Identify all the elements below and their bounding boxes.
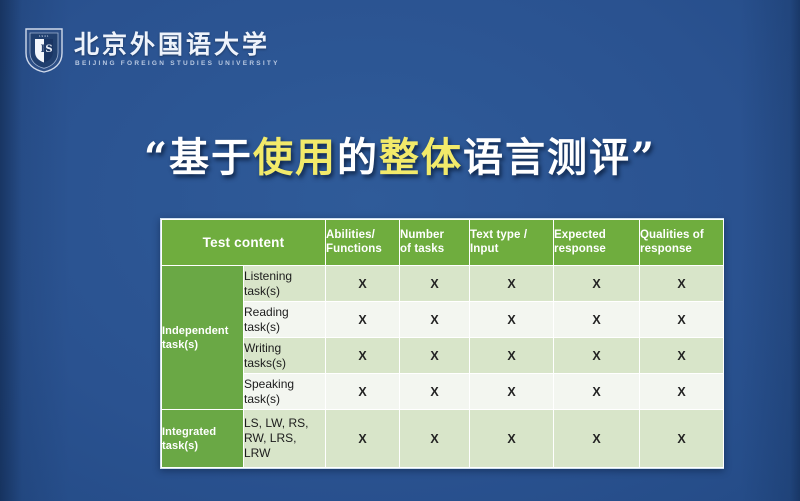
cell-listening-qualities: X — [640, 266, 724, 302]
row-label-speaking: Speaking task(s) — [244, 374, 326, 410]
column-header-qualities-of-response: Qualities of response — [640, 220, 724, 266]
cell-writing-number: X — [400, 338, 470, 374]
row-label-speaking-line-1: Speaking — [244, 377, 325, 392]
table-header: Test content Abilities/ Functions Number… — [162, 220, 724, 266]
column-header-number-of-tasks: Number of tasks — [400, 220, 470, 266]
column-header-expected-line-1: Expected — [554, 229, 639, 243]
table-row: Integrated task(s) LS, LW, RS, RW, LRS, … — [162, 410, 724, 468]
group-label-independent-line-2: task(s) — [162, 338, 243, 352]
logo-text-block: 北京外国语大学 BEIJING FOREIGN STUDIES UNIVERSI… — [74, 31, 280, 69]
slide-title: “基于使用的整体语言测评” — [0, 133, 800, 183]
group-label-independent-line-1: Independent — [162, 324, 243, 338]
cell-listening-expected: X — [554, 266, 640, 302]
group-label-independent: Independent task(s) — [162, 266, 244, 410]
row-label-writing: Writing tasks(s) — [244, 338, 326, 374]
cell-speaking-texttype: X — [470, 374, 554, 410]
cell-reading-number: X — [400, 302, 470, 338]
cell-reading-qualities: X — [640, 302, 724, 338]
cell-writing-abilities: X — [326, 338, 400, 374]
cell-speaking-qualities: X — [640, 374, 724, 410]
cell-listening-abilities: X — [326, 266, 400, 302]
title-segment-4: 整体 — [379, 134, 463, 181]
row-label-integrated-line-1: LS, LW, RS, — [244, 416, 325, 431]
cell-speaking-expected: X — [554, 374, 640, 410]
cell-reading-abilities: X — [326, 302, 400, 338]
university-name-en: BEIJING FOREIGN STUDIES UNIVERSITY — [75, 59, 280, 69]
row-label-speaking-line-2: task(s) — [244, 392, 325, 407]
row-label-integrated-line-3: LRW — [244, 446, 325, 461]
row-label-listening-line-2: task(s) — [244, 284, 325, 299]
column-header-expected-line-2: response — [554, 243, 639, 257]
cell-integrated-number: X — [400, 410, 470, 468]
cell-reading-expected: X — [554, 302, 640, 338]
university-name-cn: 北京外国语大学 — [74, 31, 280, 58]
row-label-integrated-line-2: RW, LRS, — [244, 431, 325, 446]
row-label-reading: Reading task(s) — [244, 302, 326, 338]
column-header-test-content: Test content — [162, 220, 326, 266]
group-label-integrated: Integrated task(s) — [162, 410, 244, 468]
test-content-table: Test content Abilities/ Functions Number… — [161, 219, 724, 468]
title-close-quote: ” — [631, 134, 656, 181]
svg-text:1941: 1941 — [39, 34, 49, 38]
table-row: Writing tasks(s) X X X X X — [162, 338, 724, 374]
title-segment-5: 语言测评 — [463, 134, 631, 181]
column-header-qualities-line-1: Qualities of — [640, 229, 723, 243]
test-content-table-wrapper: Test content Abilities/ Functions Number… — [160, 218, 724, 469]
shield-icon: F S 1941 — [24, 26, 64, 73]
column-header-qualities-line-2: response — [640, 243, 723, 257]
title-segment-2: 使用 — [253, 134, 337, 181]
cell-integrated-abilities: X — [326, 410, 400, 468]
cell-speaking-abilities: X — [326, 374, 400, 410]
presentation-slide: F S 1941 北京外国语大学 BEIJING FOREIGN STUDIES… — [0, 0, 800, 501]
column-header-test-content-line-1: Test content — [203, 235, 285, 250]
table-row: Reading task(s) X X X X X — [162, 302, 724, 338]
row-label-writing-line-1: Writing — [244, 341, 325, 356]
table-row: Speaking task(s) X X X X X — [162, 374, 724, 410]
column-header-abilities-line-1: Abilities/ — [326, 229, 399, 243]
column-header-texttype-line-2: Input — [470, 243, 553, 257]
title-segment-3: 的 — [337, 134, 379, 181]
row-label-reading-line-2: task(s) — [244, 320, 325, 335]
row-label-listening-line-1: Listening — [244, 269, 325, 284]
svg-text:S: S — [45, 44, 52, 55]
column-header-expected-response: Expected response — [554, 220, 640, 266]
column-header-abilities-functions: Abilities/ Functions — [326, 220, 400, 266]
column-header-abilities-line-2: Functions — [326, 243, 399, 257]
cell-speaking-number: X — [400, 374, 470, 410]
cell-listening-texttype: X — [470, 266, 554, 302]
group-label-integrated-line-1: Integrated — [162, 425, 243, 439]
cell-integrated-qualities: X — [640, 410, 724, 468]
cell-listening-number: X — [400, 266, 470, 302]
cell-integrated-texttype: X — [470, 410, 554, 468]
title-open-quote: “ — [144, 134, 169, 181]
cell-writing-texttype: X — [470, 338, 554, 374]
cell-writing-expected: X — [554, 338, 640, 374]
column-header-number-line-2: of tasks — [400, 243, 469, 257]
title-segment-1: 基于 — [169, 134, 253, 181]
cell-writing-qualities: X — [640, 338, 724, 374]
table-body: Independent task(s) Listening task(s) X … — [162, 266, 724, 468]
group-label-integrated-line-2: task(s) — [162, 439, 243, 453]
table-row: Independent task(s) Listening task(s) X … — [162, 266, 724, 302]
column-header-texttype-line-1: Text type / — [470, 229, 553, 243]
row-label-integrated-combinations: LS, LW, RS, RW, LRS, LRW — [244, 410, 326, 468]
table-header-row: Test content Abilities/ Functions Number… — [162, 220, 724, 266]
cell-integrated-expected: X — [554, 410, 640, 468]
column-header-number-line-1: Number — [400, 229, 469, 243]
row-label-writing-line-2: tasks(s) — [244, 356, 325, 371]
cell-reading-texttype: X — [470, 302, 554, 338]
row-label-reading-line-1: Reading — [244, 305, 325, 320]
university-logo: F S 1941 北京外国语大学 BEIJING FOREIGN STUDIES… — [24, 26, 280, 73]
row-label-listening: Listening task(s) — [244, 266, 326, 302]
column-header-text-type-input: Text type / Input — [470, 220, 554, 266]
